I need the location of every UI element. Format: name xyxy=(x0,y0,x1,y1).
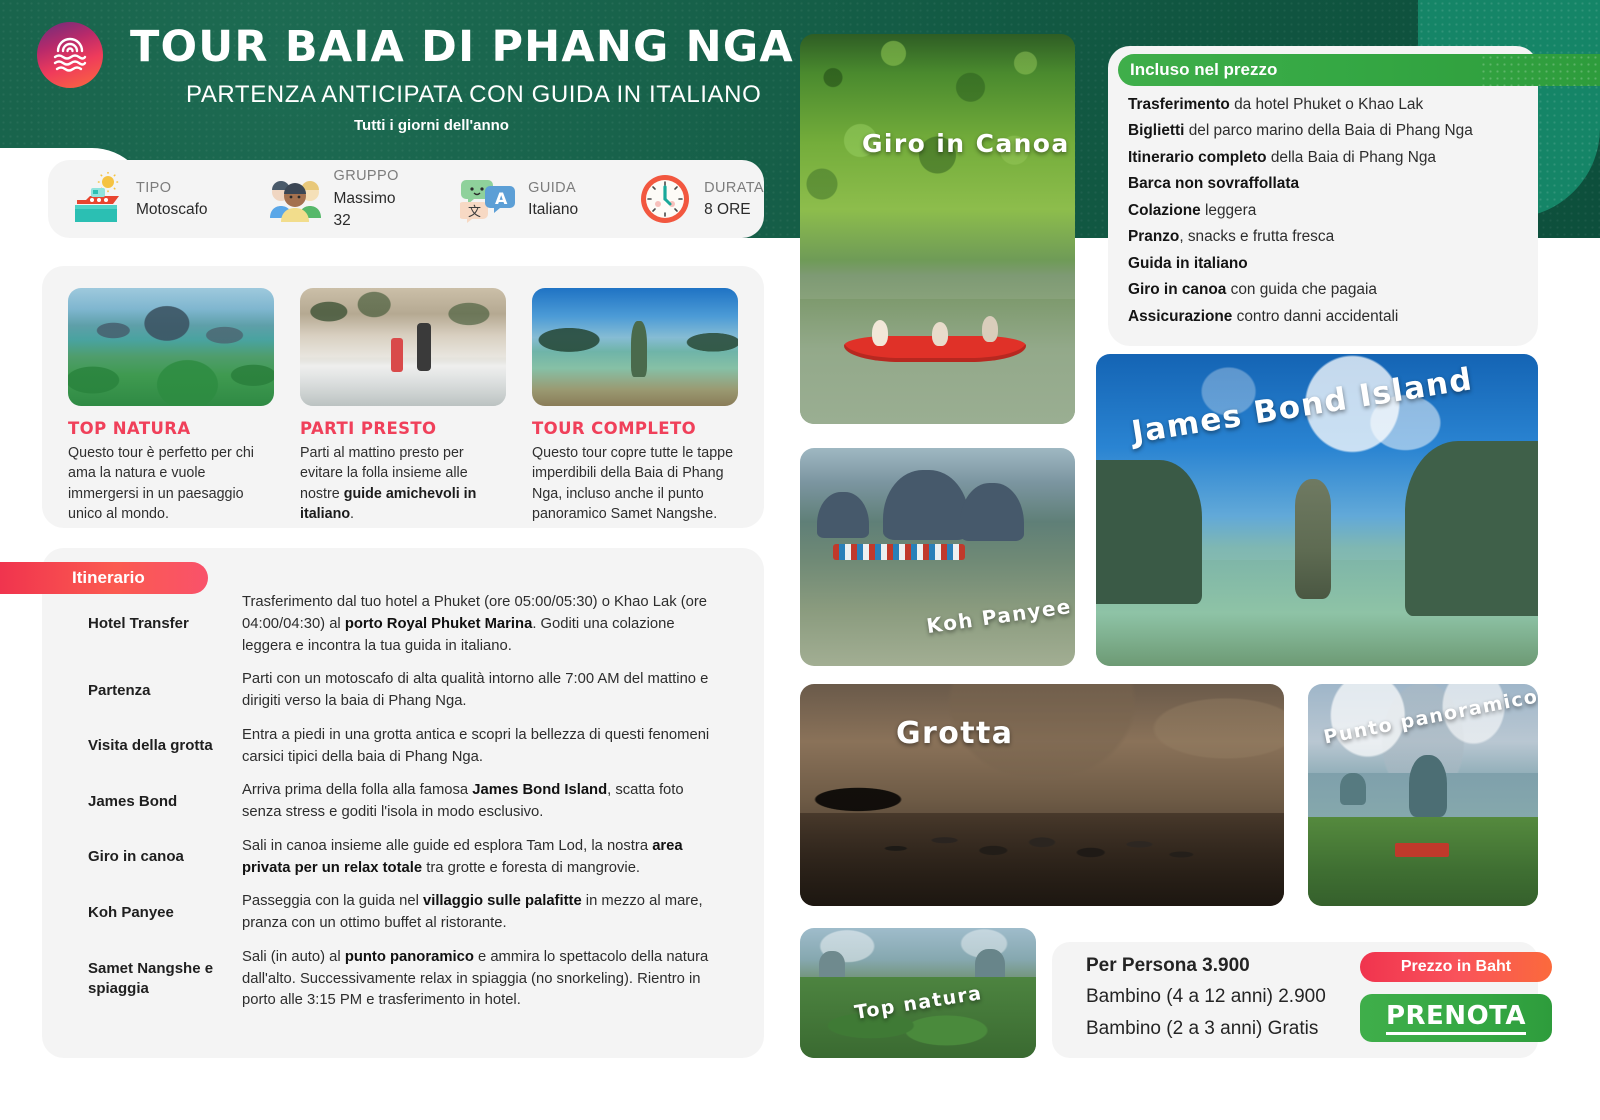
incluso-item: Barca non sovraffollata xyxy=(1128,171,1548,197)
svg-text:文: 文 xyxy=(468,205,481,220)
feature-body-parti-presto: Parti al mattino presto per evitare la f… xyxy=(300,443,506,524)
limestone-karst-art xyxy=(960,483,1024,541)
feature-title-parti-presto: PARTI PRESTO xyxy=(300,419,506,438)
cliff-left-art xyxy=(1096,460,1202,604)
feature-parti-presto: PARTI PRESTO Parti al mattino presto per… xyxy=(300,288,506,524)
incluso-item: Trasferimento da hotel Phuket o Khao Lak xyxy=(1128,92,1548,118)
itinerary-row-name: Visita della grotta xyxy=(42,725,242,769)
incluso-item: Biglietti del parco marino della Baia di… xyxy=(1128,118,1548,144)
incluso-item: Pranzo, snacks e frutta fresca xyxy=(1128,224,1548,250)
svg-text:A: A xyxy=(495,189,508,208)
incluso-title-bar: Incluso nel prezzo xyxy=(1118,54,1600,86)
info-label-tipo: TIPO xyxy=(136,177,208,199)
price-child-2-3: Bambino (2 a 3 anni) Gratis xyxy=(1086,1013,1326,1044)
incluso-dot-pattern xyxy=(1480,54,1600,86)
cliff-right-art xyxy=(1405,441,1538,616)
photo-caption-koh-panyee: Koh Panyee xyxy=(925,594,1073,638)
info-value-durata: 8 ORE xyxy=(704,199,764,221)
itinerary-row: Partenza Parti con un motoscafo di alta … xyxy=(42,669,764,713)
info-label-gruppo: GRUPPO xyxy=(334,165,403,187)
translate-icon: 文 A xyxy=(460,172,518,226)
itinerary-row-desc: Sali in canoa insieme alle guide ed espl… xyxy=(242,836,732,880)
green-hills-art xyxy=(1308,817,1538,906)
incluso-item: Giro in canoa con guida che pagaia xyxy=(1128,277,1548,303)
tourists-silhouettes-art xyxy=(868,777,1216,879)
photo-caption-giro-in-canoa: Giro in Canoa xyxy=(862,129,1070,158)
itinerary-row: Giro in canoa Sali in canoa insieme alle… xyxy=(42,836,764,880)
incluso-item: Guida in italiano xyxy=(1128,251,1548,277)
itinerary-tab: Itinerario xyxy=(0,562,208,594)
photo-caption-grotta: Grotta xyxy=(896,716,1013,751)
itinerary-row-desc: Sali (in auto) al punto panoramico e amm… xyxy=(242,947,732,1012)
photo-grotta: Grotta xyxy=(800,684,1284,906)
kayaker-art xyxy=(872,320,888,346)
brochure-page: TOUR BAIA DI PHANG NGA PARTENZA ANTICIPA… xyxy=(0,0,1600,1120)
limestone-karst-art xyxy=(883,470,969,540)
feature-body-tour-completo: Questo tour copre tutte le tappe imperdi… xyxy=(532,443,738,524)
info-value-guida: Italiano xyxy=(528,199,578,221)
feature-image-top-natura xyxy=(68,288,274,406)
itinerary-row-desc: Entra a piedi in una grotta antica e sco… xyxy=(242,725,732,769)
itinerary-row-name: James Bond xyxy=(42,780,242,824)
itinerary-row-name: Samet Nangshe e spiaggia xyxy=(42,947,242,1012)
feature-image-parti-presto xyxy=(300,288,506,406)
info-item-guida: 文 A GUIDA Italiano xyxy=(460,160,578,238)
incluso-item: Itinerario completo della Baia di Phang … xyxy=(1128,145,1548,171)
info-item-tipo: TIPO Motoscafo xyxy=(68,160,208,238)
feature-body-top-natura: Questo tour è perfetto per chi ama la na… xyxy=(68,443,274,524)
boat-icon xyxy=(68,172,126,226)
page-subtitle: PARTENZA ANTICIPATA CON GUIDA IN ITALIAN… xyxy=(186,81,761,109)
page-tagline: Tutti i giorni dell'anno xyxy=(354,117,509,134)
currency-badge: Prezzo in Baht xyxy=(1360,952,1552,982)
info-value-gruppo: Massimo 32 xyxy=(334,188,403,233)
itinerary-row-name: Koh Panyee xyxy=(42,891,242,935)
james-bond-rock-art xyxy=(1295,479,1331,599)
info-item-gruppo: GRUPPO Massimo 32 xyxy=(266,160,403,238)
itinerary-rows: Hotel Transfer Trasferimento dal tuo hot… xyxy=(42,592,764,1024)
kayaker-art xyxy=(932,322,948,346)
price-child-4-12: Bambino (4 a 12 anni) 2.900 xyxy=(1086,981,1326,1012)
limestone-karst-art xyxy=(817,492,869,538)
feature-top-natura: TOP NATURA Questo tour è perfetto per ch… xyxy=(68,288,274,524)
incluso-title: Incluso nel prezzo xyxy=(1130,60,1277,80)
karst-peak-art xyxy=(1409,755,1447,817)
itinerary-row-name: Partenza xyxy=(42,669,242,713)
clock-icon xyxy=(636,172,694,226)
page-title: TOUR BAIA DI PHANG NGA xyxy=(130,26,794,69)
info-item-durata: DURATA 8 ORE xyxy=(636,160,764,238)
itinerary-row-desc: Arriva prima della folla alla famosa Jam… xyxy=(242,780,732,824)
photo-giro-in-canoa: Giro in Canoa xyxy=(800,34,1075,424)
photo-punto-panoramico: Punto panoramico xyxy=(1308,684,1538,906)
feature-image-tour-completo xyxy=(532,288,738,406)
incluso-item: Colazione leggera xyxy=(1128,198,1548,224)
book-button-label: PRENOTA xyxy=(1386,1001,1526,1035)
tour-info-bar: TIPO Motoscafo GRUPPO Massimo 32 xyxy=(48,160,764,238)
feature-title-tour-completo: TOUR COMPLETO xyxy=(532,419,738,438)
itinerary-row-name: Hotel Transfer xyxy=(42,592,242,657)
itinerary-row: Koh Panyee Passeggia con la guida nel vi… xyxy=(42,891,764,935)
photo-koh-panyee: Koh Panyee xyxy=(800,448,1075,666)
itinerary-row: Visita della grotta Entra a piedi in una… xyxy=(42,725,764,769)
book-button[interactable]: PRENOTA xyxy=(1360,994,1552,1042)
itinerary-row-name: Giro in canoa xyxy=(42,836,242,880)
itinerary-row-desc: Trasferimento dal tuo hotel a Phuket (or… xyxy=(242,592,732,657)
itinerary-row-desc: Passeggia con la guida nel villaggio sul… xyxy=(242,891,732,935)
itinerary-row: James Bond Arriva prima della folla alla… xyxy=(42,780,764,824)
features-card: TOP NATURA Questo tour è perfetto per ch… xyxy=(42,266,764,528)
karst-peak-art xyxy=(1340,773,1366,805)
pricing-lines: Per Persona 3.900 Bambino (4 a 12 anni) … xyxy=(1086,950,1326,1044)
feature-title-top-natura: TOP NATURA xyxy=(68,419,274,438)
incluso-item: Assicurazione contro danni accidentali xyxy=(1128,304,1548,330)
itinerary-row: Samet Nangshe e spiaggia Sali (in auto) … xyxy=(42,947,764,1012)
itinerary-row-desc: Parti con un motoscafo di alta qualità i… xyxy=(242,669,732,713)
price-adult: Per Persona 3.900 xyxy=(1086,950,1326,981)
photo-top-natura: Top natura xyxy=(800,928,1036,1058)
info-label-guida: GUIDA xyxy=(528,177,578,199)
green-island-art xyxy=(800,977,1036,1058)
samet-nangshe-sign-art xyxy=(1395,843,1449,857)
brand-logo xyxy=(37,22,103,88)
itinerary-row: Hotel Transfer Trasferimento dal tuo hot… xyxy=(42,592,764,657)
sunset-waves-logo-icon xyxy=(48,35,92,75)
photo-james-bond-island: James Bond Island xyxy=(1096,354,1538,666)
itinerary-tab-label: Itinerario xyxy=(72,568,145,588)
group-icon xyxy=(266,172,324,226)
info-label-durata: DURATA xyxy=(704,177,764,199)
incluso-list: Trasferimento da hotel Phuket o Khao Lak… xyxy=(1128,92,1548,330)
floating-village-art xyxy=(833,544,965,560)
feature-tour-completo: TOUR COMPLETO Questo tour copre tutte le… xyxy=(532,288,738,524)
info-value-tipo: Motoscafo xyxy=(136,199,208,221)
kayaker-art xyxy=(982,316,998,342)
